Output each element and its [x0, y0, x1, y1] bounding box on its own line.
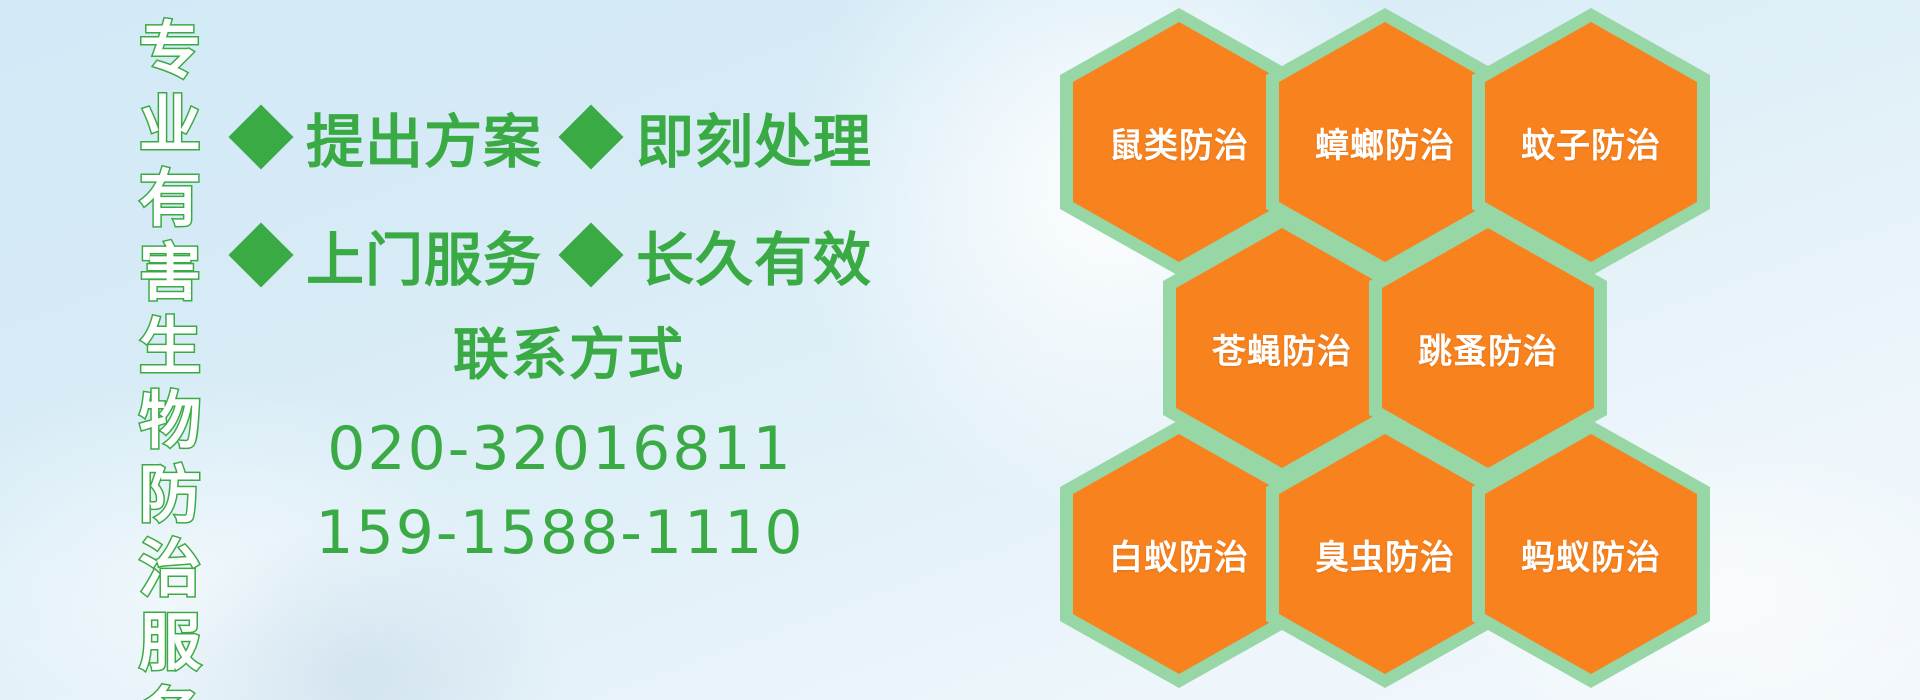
pest-control-banner: 专 业 有 害 生 物 防 治 服 务 提出方案 即刻处理 上门服务 — [0, 0, 1920, 700]
vertical-headline-char: 服 — [139, 606, 201, 680]
feature-row: 提出方案 即刻处理 — [238, 78, 878, 196]
vertical-headline-char: 业 — [139, 88, 201, 162]
contact-phone-landline[interactable]: 020-32016811 — [300, 408, 820, 490]
feature-item-onsite-service: 上门服务 — [238, 213, 568, 297]
vertical-headline-char: 防 — [139, 458, 201, 532]
hex-inner: 臭虫防治 — [1279, 434, 1491, 674]
service-label: 跳蚤防治 — [1418, 324, 1558, 373]
service-label: 苍蝇防治 — [1212, 324, 1352, 373]
service-label: 蟑螂防治 — [1315, 118, 1455, 167]
feature-label: 提出方案 — [306, 95, 542, 179]
hex-inner: 苍蝇防治 — [1176, 228, 1388, 468]
vertical-headline-char: 害 — [139, 236, 201, 310]
service-honeycomb: 鼠类防治 蟑螂防治 蚊子防治 苍蝇防治 跳蚤防治 白蚁防治 — [1060, 0, 1920, 700]
service-label: 鼠类防治 — [1109, 118, 1249, 167]
hex-inner: 蚂蚁防治 — [1485, 434, 1697, 674]
feature-label: 即刻处理 — [636, 95, 872, 179]
diamond-bullet-icon — [558, 104, 623, 169]
diamond-bullet-icon — [228, 104, 293, 169]
service-label: 白蚁防治 — [1109, 530, 1249, 579]
feature-item-immediate-handling: 即刻处理 — [568, 95, 872, 179]
service-label: 蚊子防治 — [1521, 118, 1661, 167]
vertical-headline: 专 业 有 害 生 物 防 治 服 务 — [128, 14, 212, 686]
feature-row: 上门服务 长久有效 — [238, 196, 878, 314]
hex-inner: 鼠类防治 — [1073, 22, 1285, 262]
diamond-bullet-icon — [558, 222, 623, 287]
feature-list: 提出方案 即刻处理 上门服务 长久有效 — [238, 78, 878, 314]
vertical-headline-char: 物 — [139, 384, 201, 458]
vertical-headline-char: 专 — [139, 14, 201, 88]
vertical-headline-char: 治 — [139, 532, 201, 606]
service-label: 蚂蚁防治 — [1521, 530, 1661, 579]
feature-label: 长久有效 — [636, 213, 872, 297]
hex-inner: 白蚁防治 — [1073, 434, 1285, 674]
hex-inner: 蟑螂防治 — [1279, 22, 1491, 262]
diamond-bullet-icon — [228, 222, 293, 287]
feature-item-long-lasting: 长久有效 — [568, 213, 872, 297]
contact-phone-mobile[interactable]: 159-1588-1110 — [300, 492, 820, 574]
contact-block: 联系方式 020-32016811 159-1588-1110 — [300, 318, 820, 574]
vertical-headline-char: 生 — [139, 310, 201, 384]
contact-title: 联系方式 — [318, 318, 820, 394]
hex-inner: 跳蚤防治 — [1382, 228, 1594, 468]
service-label: 臭虫防治 — [1315, 530, 1455, 579]
feature-item-propose-plan: 提出方案 — [238, 95, 568, 179]
vertical-headline-char: 有 — [139, 162, 201, 236]
feature-label: 上门服务 — [306, 213, 542, 297]
vertical-headline-char: 务 — [139, 680, 201, 700]
hex-inner: 蚊子防治 — [1485, 22, 1697, 262]
